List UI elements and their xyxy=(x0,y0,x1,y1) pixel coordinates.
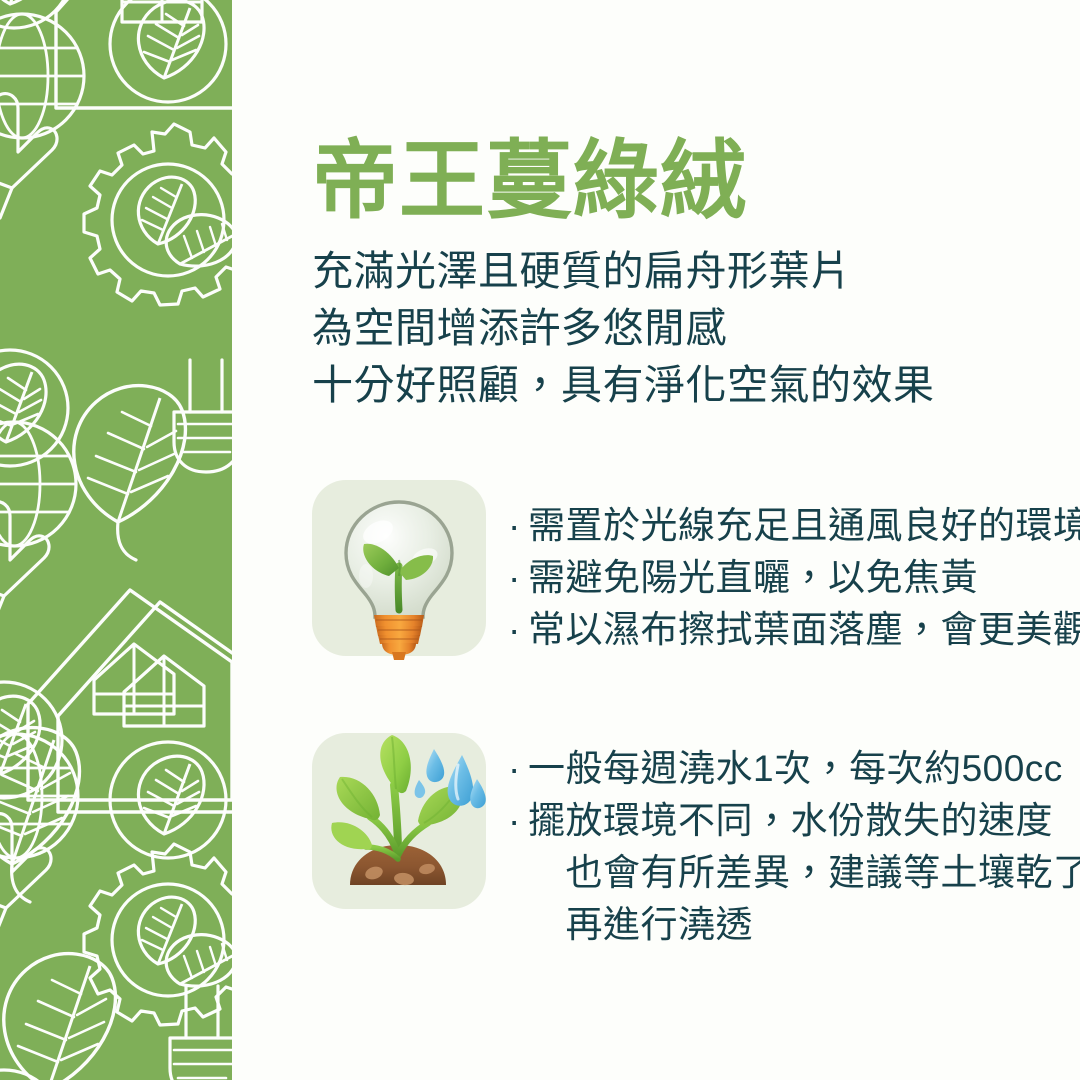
water-care-list: ·一般每週澆水1次，每次約500cc ·擺放環境不同，水份散失的速度 也會有所差… xyxy=(508,743,1080,951)
list-item-text: 再進行澆透 xyxy=(528,899,1080,951)
decorative-sidebar xyxy=(0,0,232,1080)
subtitle-line-2: 為空間增添許多悠閒感 xyxy=(312,300,935,357)
light-icon-card xyxy=(312,480,486,656)
eco-line-art-pattern xyxy=(0,0,232,1080)
bullet-dot: · xyxy=(508,500,521,552)
list-item-text: 需避免陽光直曬，以免焦黃 xyxy=(528,552,1080,604)
content-column: 帝王蔓綠絨 充滿光澤且硬質的扁舟形葉片 為空間增添許多悠閒感 十分好照顧，具有淨… xyxy=(232,0,1080,1080)
list-item-continuation: 再進行澆透 xyxy=(508,899,1080,951)
bullet-dot: · xyxy=(508,743,521,795)
light-care-list: ·需置於光線充足且通風良好的環境 ·需避免陽光直曬，以免焦黃 ·常以濕布擦拭葉面… xyxy=(508,500,1080,656)
bullet-dot: · xyxy=(508,552,521,604)
list-item-continuation: 也會有所差異，建議等土壤乾了 xyxy=(508,847,1080,899)
water-icon-card xyxy=(312,733,486,909)
bullet-dot: · xyxy=(508,795,521,847)
bullet-dot: · xyxy=(508,604,521,656)
list-item: ·一般每週澆水1次，每次約500cc xyxy=(508,743,1080,795)
list-item-text: 常以濕布擦拭葉面落塵，會更美觀 xyxy=(528,604,1080,656)
list-item: ·需避免陽光直曬，以免焦黃 xyxy=(508,552,1080,604)
list-item-text: 一般每週澆水1次，每次約500cc xyxy=(528,743,1080,795)
list-item-text: 也會有所差異，建議等土壤乾了 xyxy=(528,847,1080,899)
subtitle-line-3: 十分好照顧，具有淨化空氣的效果 xyxy=(312,357,935,414)
list-item: ·常以濕布擦拭葉面落塵，會更美觀 xyxy=(508,604,1080,656)
list-item: ·擺放環境不同，水份散失的速度 xyxy=(508,795,1080,847)
plant-care-poster: 帝王蔓綠絨 充滿光澤且硬質的扁舟形葉片 為空間增添許多悠閒感 十分好照顧，具有淨… xyxy=(0,0,1080,1080)
list-item-text: 需置於光線充足且通風良好的環境 xyxy=(528,500,1080,552)
subtitle-line-1: 充滿光澤且硬質的扁舟形葉片 xyxy=(312,243,935,300)
page-title: 帝王蔓綠絨 xyxy=(312,133,747,229)
subtitle: 充滿光澤且硬質的扁舟形葉片 為空間增添許多悠閒感 十分好照顧，具有淨化空氣的效果 xyxy=(312,243,935,414)
list-item-text: 擺放環境不同，水份散失的速度 xyxy=(528,795,1080,847)
list-item: ·需置於光線充足且通風良好的環境 xyxy=(508,500,1080,552)
